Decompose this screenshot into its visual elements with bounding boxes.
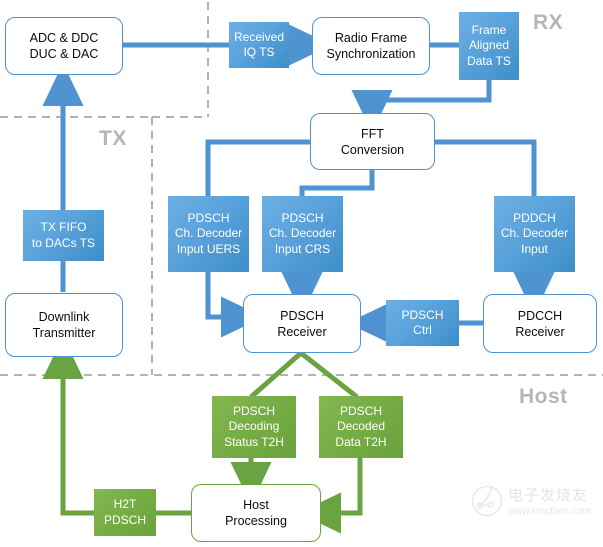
node-line: Status T2H bbox=[224, 435, 284, 450]
wire-fft-to-pdsch-crs bbox=[302, 170, 372, 196]
node-frame-aligned-data-ts[interactable]: Frame Aligned Data TS bbox=[459, 12, 519, 80]
node-line: Ch. Decoder bbox=[269, 226, 336, 241]
node-pdsch-decoding-status-t2h[interactable]: PDSCH Decoding Status T2H bbox=[212, 396, 296, 458]
connector-layer bbox=[0, 0, 603, 547]
node-radio-frame-synchronization[interactable]: Radio Frame Synchronization bbox=[312, 17, 430, 75]
node-line: Frame bbox=[472, 23, 507, 38]
node-received-iq-ts[interactable]: Received IQ TS bbox=[229, 22, 289, 68]
node-line: PDCCH bbox=[518, 308, 562, 324]
node-line: to DACs TS bbox=[32, 236, 95, 251]
node-line: PDSCH bbox=[187, 211, 229, 226]
node-line: Transmitter bbox=[33, 325, 96, 341]
watermark: 电子发烧友 www.elecfans.com bbox=[470, 480, 595, 538]
node-host-processing[interactable]: Host Processing bbox=[191, 484, 321, 542]
node-line: Radio Frame bbox=[335, 30, 407, 46]
wire-decdata-to-hostproc bbox=[320, 458, 360, 513]
node-pdcch-receiver[interactable]: PDCCH Receiver bbox=[483, 294, 597, 353]
node-pdsch-receiver[interactable]: PDSCH Receiver bbox=[243, 294, 361, 353]
node-line: TX FIFO bbox=[41, 220, 87, 235]
node-line: PDSCH bbox=[104, 513, 146, 528]
node-line: Downlink bbox=[39, 309, 90, 325]
node-line: PDSCH bbox=[281, 211, 323, 226]
node-pdsch-decoded-data-t2h[interactable]: PDSCH Decoded Data T2H bbox=[319, 396, 403, 458]
wire-framealigned-to-fft bbox=[372, 80, 489, 111]
node-line: PDDCH bbox=[513, 211, 556, 226]
node-pdsch-ch-decoder-input-uers[interactable]: PDSCH Ch. Decoder Input UERS bbox=[168, 196, 249, 272]
node-line: PDSCH bbox=[401, 308, 443, 323]
node-h2t-pdsch[interactable]: H2T PDSCH bbox=[94, 489, 156, 536]
node-line: Processing bbox=[225, 513, 287, 529]
node-line: Data TS bbox=[467, 54, 511, 69]
wire-fft-to-pdsch-uers bbox=[208, 142, 310, 196]
node-downlink-transmitter[interactable]: Downlink Transmitter bbox=[5, 293, 123, 357]
node-line: ADC & DDC bbox=[30, 30, 99, 46]
node-line: Input bbox=[521, 242, 548, 257]
node-line: PDSCH bbox=[340, 404, 382, 419]
node-line: FFT bbox=[361, 126, 384, 142]
node-pdsch-ctrl[interactable]: PDSCH Ctrl bbox=[386, 300, 459, 346]
node-tx-fifo-to-dacs-ts[interactable]: TX FIFO to DACs TS bbox=[23, 210, 104, 261]
zone-label-tx: TX bbox=[99, 127, 127, 151]
wire-h2t-to-dltx bbox=[63, 358, 94, 513]
node-line: Aligned bbox=[469, 38, 509, 53]
node-adc-ddc-duc-dac[interactable]: ADC & DDC DUC & DAC bbox=[5, 17, 123, 75]
node-line: Receiver bbox=[515, 324, 564, 340]
node-line: Host bbox=[243, 497, 269, 513]
node-fft-conversion[interactable]: FFT Conversion bbox=[310, 113, 435, 170]
node-line: H2T bbox=[114, 497, 137, 512]
node-line: Input UERS bbox=[177, 242, 240, 257]
node-line: PDSCH bbox=[233, 404, 275, 419]
watermark-brand: 电子发烧友 bbox=[508, 484, 588, 505]
zone-label-rx: RX bbox=[533, 11, 563, 35]
wire-fft-to-pddch bbox=[435, 142, 534, 196]
node-line: PDSCH bbox=[280, 308, 324, 324]
node-line: Decoded bbox=[337, 419, 385, 434]
blue-connectors bbox=[63, 45, 534, 323]
watermark-url: www.elecfans.com bbox=[508, 506, 591, 517]
node-line: Data T2H bbox=[335, 435, 386, 450]
node-line: Receiver bbox=[277, 324, 326, 340]
node-line: Ch. Decoder bbox=[501, 226, 568, 241]
node-pdsch-ch-decoder-input-crs[interactable]: PDSCH Ch. Decoder Input CRS bbox=[262, 196, 343, 272]
diagram-canvas: RX TX Host ADC & DDC DUC & DAC Received … bbox=[0, 0, 603, 547]
node-line: DUC & DAC bbox=[30, 46, 99, 62]
node-line: Ctrl bbox=[413, 323, 432, 338]
node-line: IQ TS bbox=[243, 45, 274, 60]
wire-uers-to-pdschrx bbox=[208, 272, 242, 317]
elecfans-logo-icon bbox=[470, 480, 506, 518]
node-line: Received bbox=[234, 30, 284, 45]
node-line: Decoding bbox=[229, 419, 280, 434]
node-pddch-ch-decoder-input[interactable]: PDDCH Ch. Decoder Input bbox=[494, 196, 575, 272]
zone-label-host: Host bbox=[519, 385, 568, 409]
node-line: Conversion bbox=[341, 142, 404, 158]
node-line: Ch. Decoder bbox=[175, 226, 242, 241]
node-line: Synchronization bbox=[327, 46, 416, 62]
node-line: Input CRS bbox=[275, 242, 330, 257]
